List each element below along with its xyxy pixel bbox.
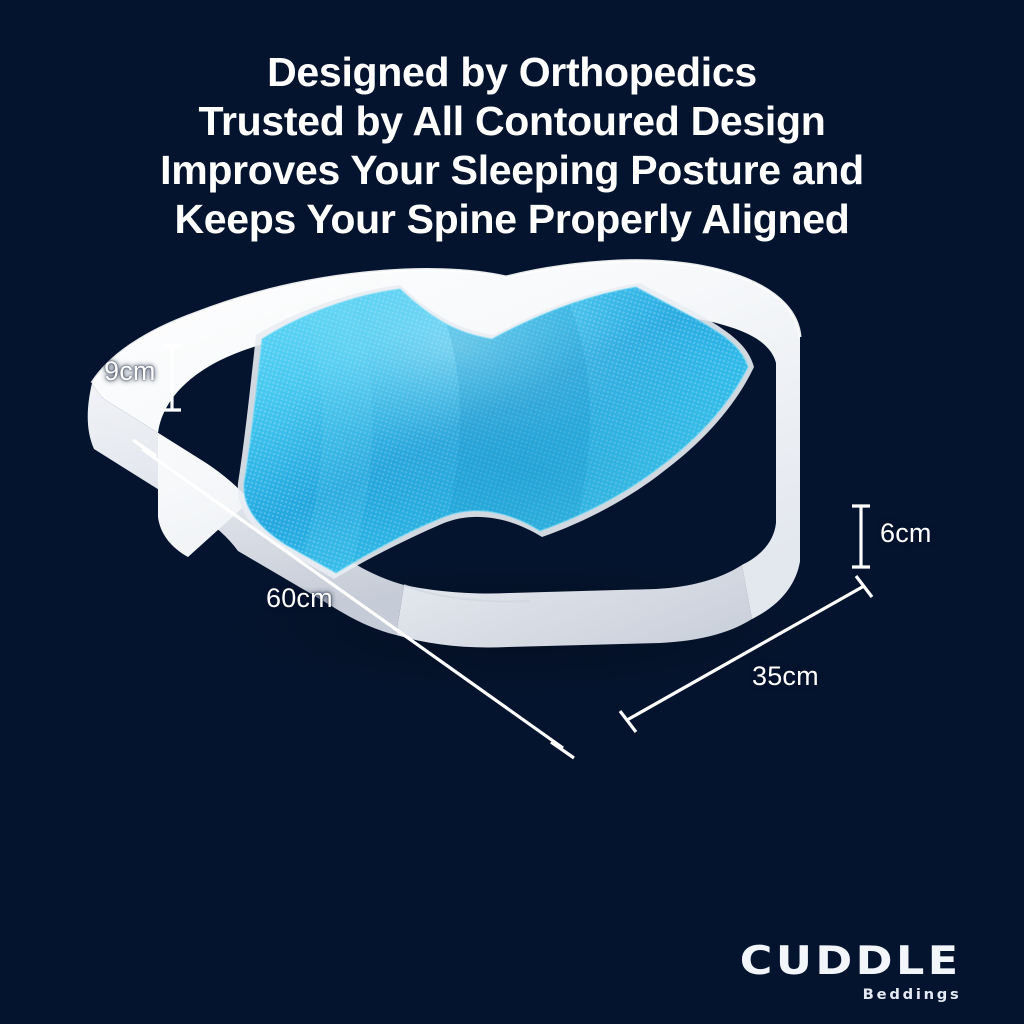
headline-line-3: Improves Your Sleeping Posture and [0,146,1024,195]
headline-line-1: Designed by Orthopedics [0,48,1024,97]
product-marketing-poster: Designed by Orthopedics Trusted by All C… [0,0,1024,1024]
headline-line-4: Keeps Your Spine Properly Aligned [0,195,1024,244]
product-image [0,255,1024,775]
pillow-illustration [0,255,1024,775]
headline-line-2: Trusted by All Contoured Design [0,97,1024,146]
page-title: Designed by Orthopedics Trusted by All C… [0,48,1024,244]
brand-logo: CUDDLE Beddings [767,942,962,1002]
logo-tagline: Beddings [758,988,962,1002]
logo-wordmark: CUDDLE [740,942,962,981]
